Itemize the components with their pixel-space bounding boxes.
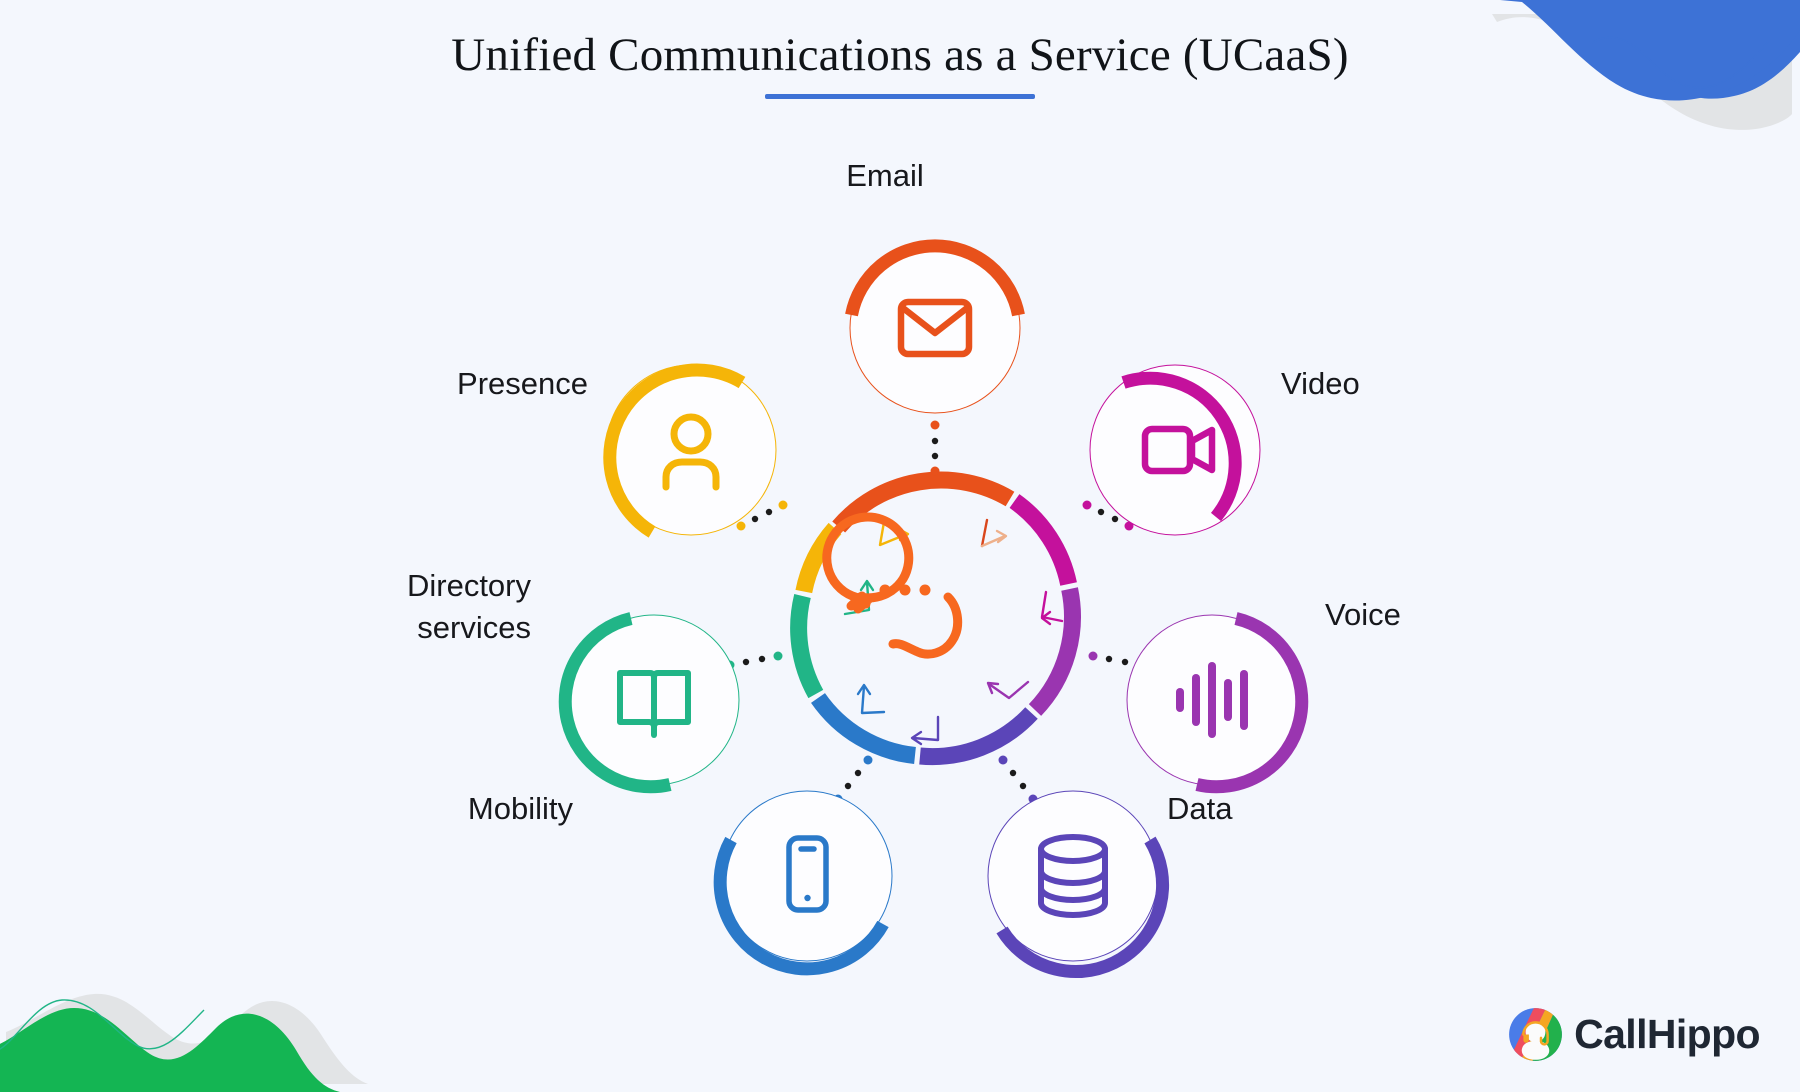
callhippo-logo-icon: [1508, 1007, 1563, 1062]
node-mobility[interactable]: [720, 791, 892, 969]
chat-dot-1: [880, 585, 891, 596]
node-data[interactable]: [988, 791, 1163, 972]
ring-segment-voice: [1035, 589, 1072, 710]
node-directory[interactable]: [565, 615, 739, 787]
elbow-arrow-mobility: [862, 686, 884, 713]
node-email[interactable]: [850, 243, 1020, 413]
connector-mobility: [834, 756, 873, 804]
ring-segment-directory: [799, 596, 816, 694]
connector-directory: [726, 652, 783, 670]
node-presence[interactable]: [606, 365, 776, 535]
callhippo-logo-text: CallHippo: [1574, 1014, 1760, 1055]
chat-bubble-secondary: [893, 597, 958, 654]
ring-segment-video: [1015, 501, 1069, 584]
node-video[interactable]: [1090, 365, 1260, 535]
center-chat-bubbles-icon: [827, 517, 958, 654]
node-voice[interactable]: [1127, 615, 1302, 787]
elbow-arrow-data: [913, 717, 938, 740]
node-label-presence: Presence: [457, 363, 588, 405]
ring-segment-mobility: [818, 698, 915, 756]
page-title: Unified Communications as a Service (UCa…: [0, 28, 1800, 82]
connector-email: [931, 421, 940, 476]
callhippo-logo[interactable]: CallHippo: [1508, 1007, 1760, 1062]
chat-dot-3: [920, 585, 931, 596]
node-label-email: Email: [846, 155, 924, 197]
node-label-data: Data: [1167, 788, 1232, 830]
title-block: Unified Communications as a Service (UCa…: [0, 28, 1800, 99]
connector-data: [999, 756, 1038, 804]
node-label-directory: Directory services: [407, 565, 531, 649]
chat-bubble-main: [827, 517, 909, 609]
node-label-video: Video: [1281, 363, 1360, 405]
infographic-canvas: Unified Communications as a Service (UCa…: [0, 0, 1800, 1092]
ring-segment-data: [920, 713, 1032, 757]
node-label-mobility: Mobility: [468, 788, 573, 830]
node-mobility-bg: [722, 791, 892, 961]
chat-dot-2: [900, 585, 911, 596]
central-ring: [799, 480, 1073, 756]
title-underline: [765, 94, 1035, 99]
elbow-arrow-email: [982, 520, 987, 546]
node-label-voice: Voice: [1325, 594, 1401, 636]
